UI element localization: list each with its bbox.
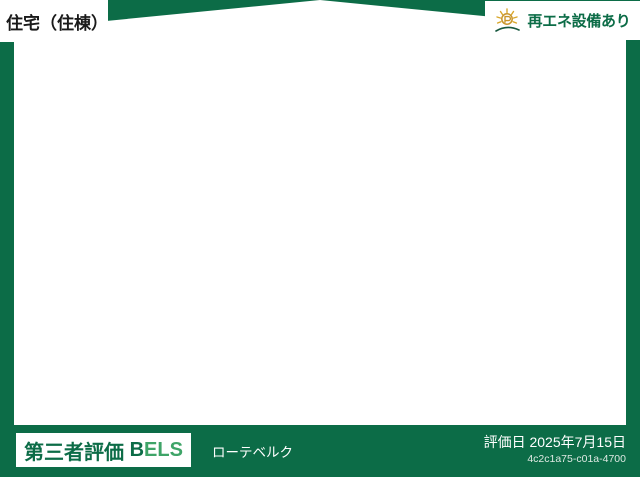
bels-wordmark: BELS bbox=[124, 439, 183, 462]
energy-label-root: 住宅（住棟） 再エネ設備あり 建築物省エネ法に基づく bbox=[0, 0, 640, 477]
bels-jp-label: 第三者評価 bbox=[24, 436, 124, 465]
building-type-label: 住宅（住棟） bbox=[6, 9, 108, 34]
evaluation-date-label: 評価日 bbox=[484, 434, 526, 450]
evaluation-id: 4c2c1a75-c01a-4700 bbox=[527, 453, 626, 465]
renewable-badge-label: 再エネ設備あり bbox=[528, 10, 631, 31]
footer-bar: 第三者評価 BELS ローテベルク 評価日 2025年7月15日 4c2c1a7… bbox=[0, 425, 640, 477]
bels-badge: 第三者評価 BELS bbox=[16, 433, 191, 467]
bels-letter-b: B bbox=[130, 439, 144, 461]
sun-energy-icon bbox=[493, 7, 523, 35]
company-name: ローテベルク bbox=[212, 441, 293, 461]
renewable-equipment-badge: 再エネ設備あり bbox=[485, 1, 640, 40]
evaluation-date-value: 2025年7月15日 bbox=[529, 434, 626, 450]
building-type-badge: 住宅（住棟） bbox=[0, 0, 108, 42]
evaluation-date: 評価日 2025年7月15日 bbox=[484, 432, 626, 452]
label-card bbox=[14, 0, 626, 425]
bels-letters-els: ELS bbox=[144, 439, 183, 461]
